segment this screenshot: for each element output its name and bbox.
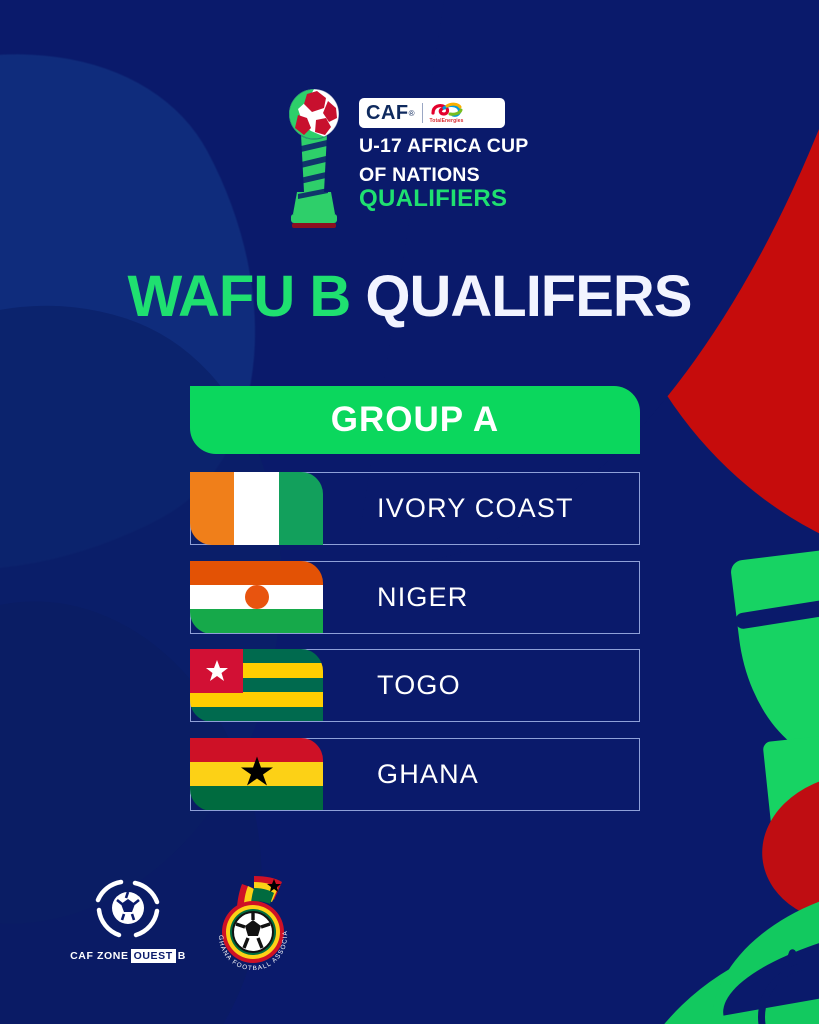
- event-logo-lockup: CAF ® TotalEnergies U-17 AFRICA C: [283, 82, 543, 242]
- table-row[interactable]: NIGER: [190, 561, 640, 634]
- poster-canvas: CAF ® TotalEnergies U-17 AFRICA C: [0, 0, 819, 1024]
- team-name: IVORY COAST: [377, 493, 574, 524]
- totalenergies-logo-icon: TotalEnergies: [430, 102, 464, 124]
- caf-registered-mark: ®: [409, 109, 415, 118]
- table-row[interactable]: GHANA: [190, 738, 640, 811]
- background-trophy-graphic: [742, 548, 819, 848]
- competition-title-line2: OF NATIONS: [359, 165, 531, 186]
- caf-zone-suffix: B: [178, 950, 186, 962]
- headline-qualifers: QUALIFERS: [365, 264, 691, 329]
- caf-divider: [422, 103, 423, 123]
- table-row[interactable]: IVORY COAST: [190, 472, 640, 545]
- ghana-flag-icon: [190, 738, 323, 811]
- table-row[interactable]: TOGO: [190, 649, 640, 722]
- caf-wordmark: CAF: [366, 103, 409, 123]
- caf-trophy-icon: [283, 82, 345, 237]
- caf-zone-boxed-word: OUEST: [131, 949, 176, 963]
- group-banner: GROUP A: [190, 386, 640, 454]
- caf-zone-ouest-b-logo-icon: [91, 878, 165, 940]
- team-name: GHANA: [377, 759, 479, 790]
- ghana-football-association-logo-icon: GHANA FOOTBALL ASSOCIATION: [210, 870, 296, 970]
- headline-wafu-b: WAFU B: [128, 264, 351, 329]
- footer-logos: CAF ZONE OUEST B: [72, 866, 292, 974]
- totalenergies-wordmark: TotalEnergies: [430, 119, 464, 124]
- group-label: GROUP A: [331, 400, 499, 440]
- caf-badge: CAF ® TotalEnergies: [359, 98, 505, 128]
- page-title: WAFU B QUALIFERS: [0, 268, 819, 326]
- togo-flag-icon: [190, 649, 323, 722]
- team-name: NIGER: [377, 582, 469, 613]
- caf-zone-ouest-b-label: CAF ZONE OUEST B: [70, 949, 186, 963]
- team-name: TOGO: [377, 670, 461, 701]
- niger-flag-icon: [190, 561, 323, 634]
- competition-title-line3: QUALIFIERS: [359, 186, 531, 211]
- caf-sponsor-block: CAF ® TotalEnergies U-17 AFRICA C: [359, 82, 531, 212]
- ivory-coast-flag-icon: [190, 472, 323, 545]
- caf-zone-prefix: CAF ZONE: [70, 950, 128, 962]
- caf-zone-ouest-b-logo: CAF ZONE OUEST B: [72, 878, 184, 963]
- competition-title-line1: U-17 AFRICA CUP: [359, 136, 531, 157]
